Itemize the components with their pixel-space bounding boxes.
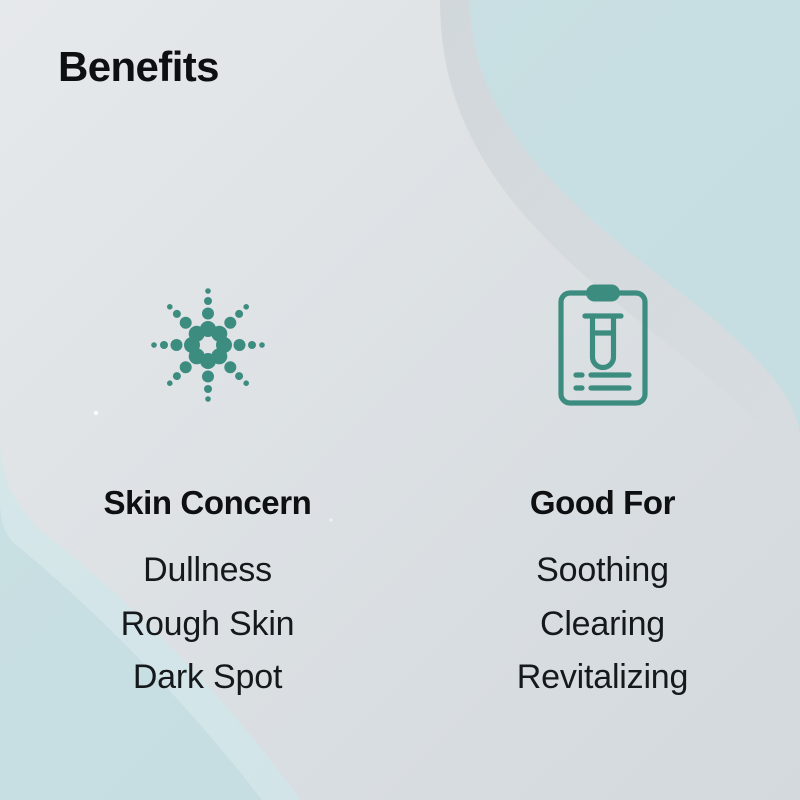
benefits-infographic: Benefits: [0, 0, 800, 800]
benefit-column-skin-concern: Skin Concern Dullness Rough Skin Dark Sp…: [0, 270, 405, 721]
list-item: Rough Skin: [121, 598, 295, 652]
benefit-list-good-for: Soothing Clearing Revitalizing: [517, 544, 688, 705]
column-heading-good-for: Good For: [530, 484, 675, 522]
column-heading-skin-concern: Skin Concern: [104, 484, 312, 522]
list-item: Dark Spot: [121, 651, 295, 705]
benefit-columns: Skin Concern Dullness Rough Skin Dark Sp…: [0, 270, 800, 721]
list-item: Clearing: [517, 598, 688, 652]
benefit-list-skin-concern: Dullness Rough Skin Dark Spot: [121, 544, 295, 705]
page-title: Benefits: [58, 44, 219, 90]
benefit-column-good-for: Good For Soothing Clearing Revitalizing: [405, 270, 800, 721]
list-item: Dullness: [121, 544, 295, 598]
list-item: Revitalizing: [517, 651, 688, 705]
list-item: Soothing: [517, 544, 688, 598]
clipboard-test-tube-icon: [557, 270, 649, 420]
starburst-sparkle-icon: [146, 270, 270, 420]
